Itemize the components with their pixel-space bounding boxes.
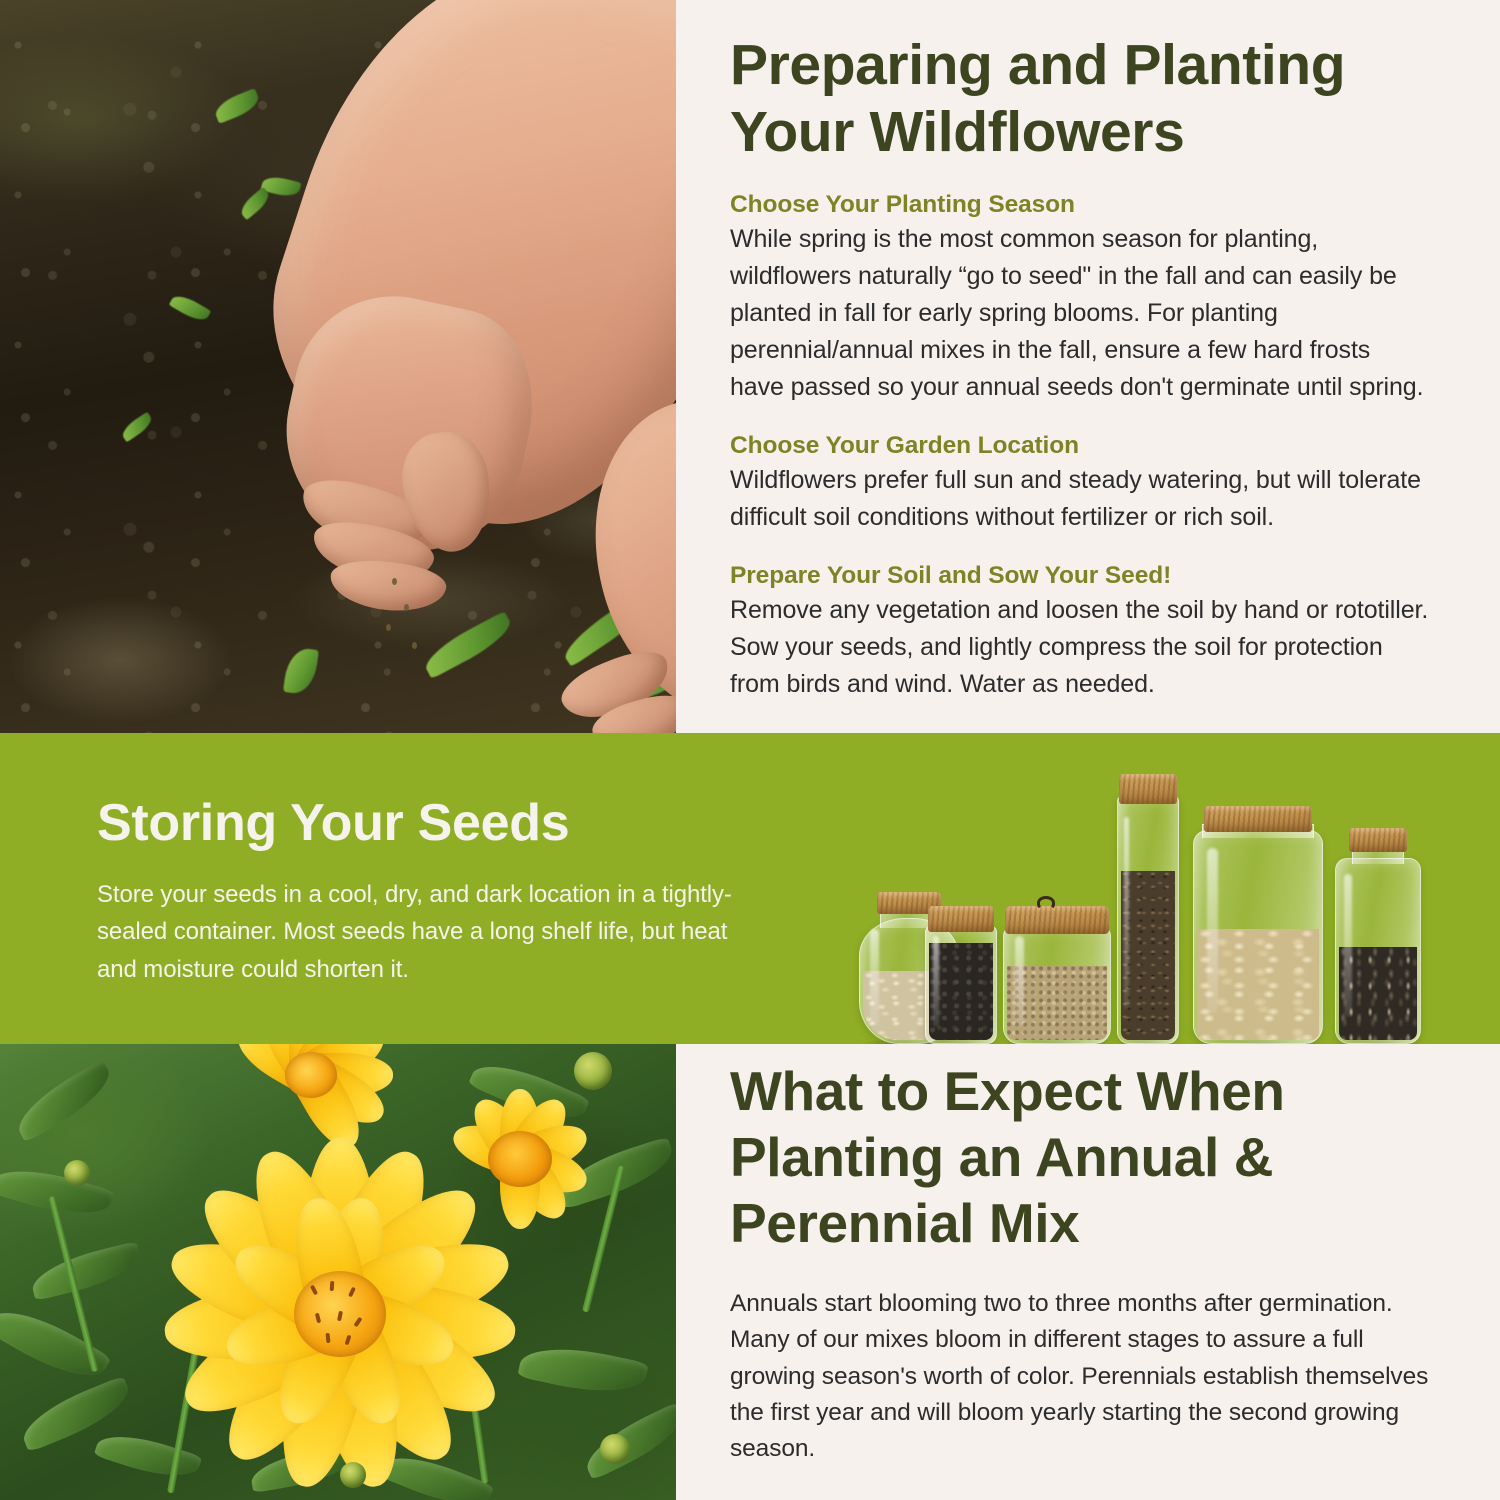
jar-glass	[1193, 830, 1323, 1044]
body-garden-location: Wildflowers prefer full sun and steady w…	[730, 462, 1430, 536]
subheading-garden-location: Choose Your Garden Location	[730, 432, 1430, 460]
expect-title: What to Expect When Planting an Annual &…	[730, 1058, 1430, 1256]
jar-glass	[925, 926, 997, 1044]
sunflower-seed-jar	[1335, 828, 1421, 1044]
fine-sand-seed-jar	[1003, 904, 1111, 1044]
cork-lid	[1204, 806, 1312, 832]
tall-dark-seed-tube	[1117, 774, 1179, 1044]
bloom-center	[488, 1131, 552, 1187]
flower-bud	[340, 1462, 366, 1488]
stamen	[348, 1287, 356, 1298]
body-planting-season: While spring is the most common season f…	[730, 221, 1430, 406]
flower-bud	[64, 1160, 90, 1186]
jar-glass	[1003, 926, 1111, 1044]
stamen	[315, 1313, 321, 1324]
cork-lid	[1005, 906, 1109, 934]
photo-seed-jars	[845, 753, 1430, 1044]
page-title: Preparing and Planting Your Wildflowers	[730, 32, 1430, 165]
stamen	[330, 1281, 335, 1291]
falling-seed	[392, 578, 397, 585]
stamen	[337, 1311, 343, 1322]
flower-bud	[574, 1052, 612, 1090]
glass-highlight	[1207, 848, 1219, 1013]
jar-contents-dark-seeds	[1121, 871, 1175, 1040]
stamen	[310, 1285, 318, 1296]
cork-pull-loop	[1037, 896, 1055, 910]
infographic-page: Preparing and Planting Your Wildflowers …	[0, 0, 1500, 1500]
glass-highlight	[933, 936, 939, 1026]
glass-highlight	[870, 929, 879, 1026]
expect-text-column: What to Expect When Planting an Annual &…	[730, 1058, 1430, 1467]
stamen	[345, 1335, 352, 1346]
body-prepare-soil: Remove any vegetation and loosen the soi…	[730, 592, 1430, 703]
stamen	[354, 1317, 363, 1328]
section-storing-your-seeds: Storing Your Seeds Store your seeds in a…	[0, 733, 1500, 1044]
falling-seed	[386, 624, 391, 631]
cork-lid	[1349, 828, 1407, 852]
bloom-center	[285, 1052, 337, 1098]
subheading-planting-season: Choose Your Planting Season	[730, 191, 1430, 219]
bloom-center	[294, 1271, 386, 1357]
falling-seed	[412, 642, 417, 649]
subheading-prepare-soil: Prepare Your Soil and Sow Your Seed!	[730, 562, 1430, 590]
jar-glass	[1117, 796, 1179, 1044]
main-bloom	[130, 1114, 550, 1500]
falling-seed	[404, 604, 409, 611]
photo-yellow-coreopsis	[0, 1044, 676, 1500]
preparing-text-column: Preparing and Planting Your Wildflowers …	[730, 32, 1430, 703]
black-seed-jar	[925, 904, 997, 1044]
storing-body: Store your seeds in a cool, dry, and dar…	[97, 876, 737, 988]
cork-lid	[1119, 774, 1177, 804]
stamen	[325, 1333, 330, 1343]
jar-glass	[1335, 858, 1421, 1044]
glass-highlight	[1344, 874, 1352, 1018]
section-preparing-and-planting: Preparing and Planting Your Wildflowers …	[0, 0, 1500, 733]
flower-bud	[600, 1434, 630, 1464]
storing-text-column: Storing Your Seeds Store your seeds in a…	[97, 795, 737, 988]
glass-highlight	[1124, 817, 1129, 1009]
expect-body: Annuals start blooming two to three mont…	[730, 1286, 1430, 1467]
glass-highlight	[1015, 936, 1025, 1026]
pumpkin-seed-jar	[1193, 806, 1323, 1044]
section-what-to-expect: What to Expect When Planting an Annual &…	[0, 1044, 1500, 1500]
cork-lid	[928, 906, 994, 932]
storing-title: Storing Your Seeds	[97, 795, 737, 852]
photo-hands-sowing-seeds	[0, 0, 676, 733]
